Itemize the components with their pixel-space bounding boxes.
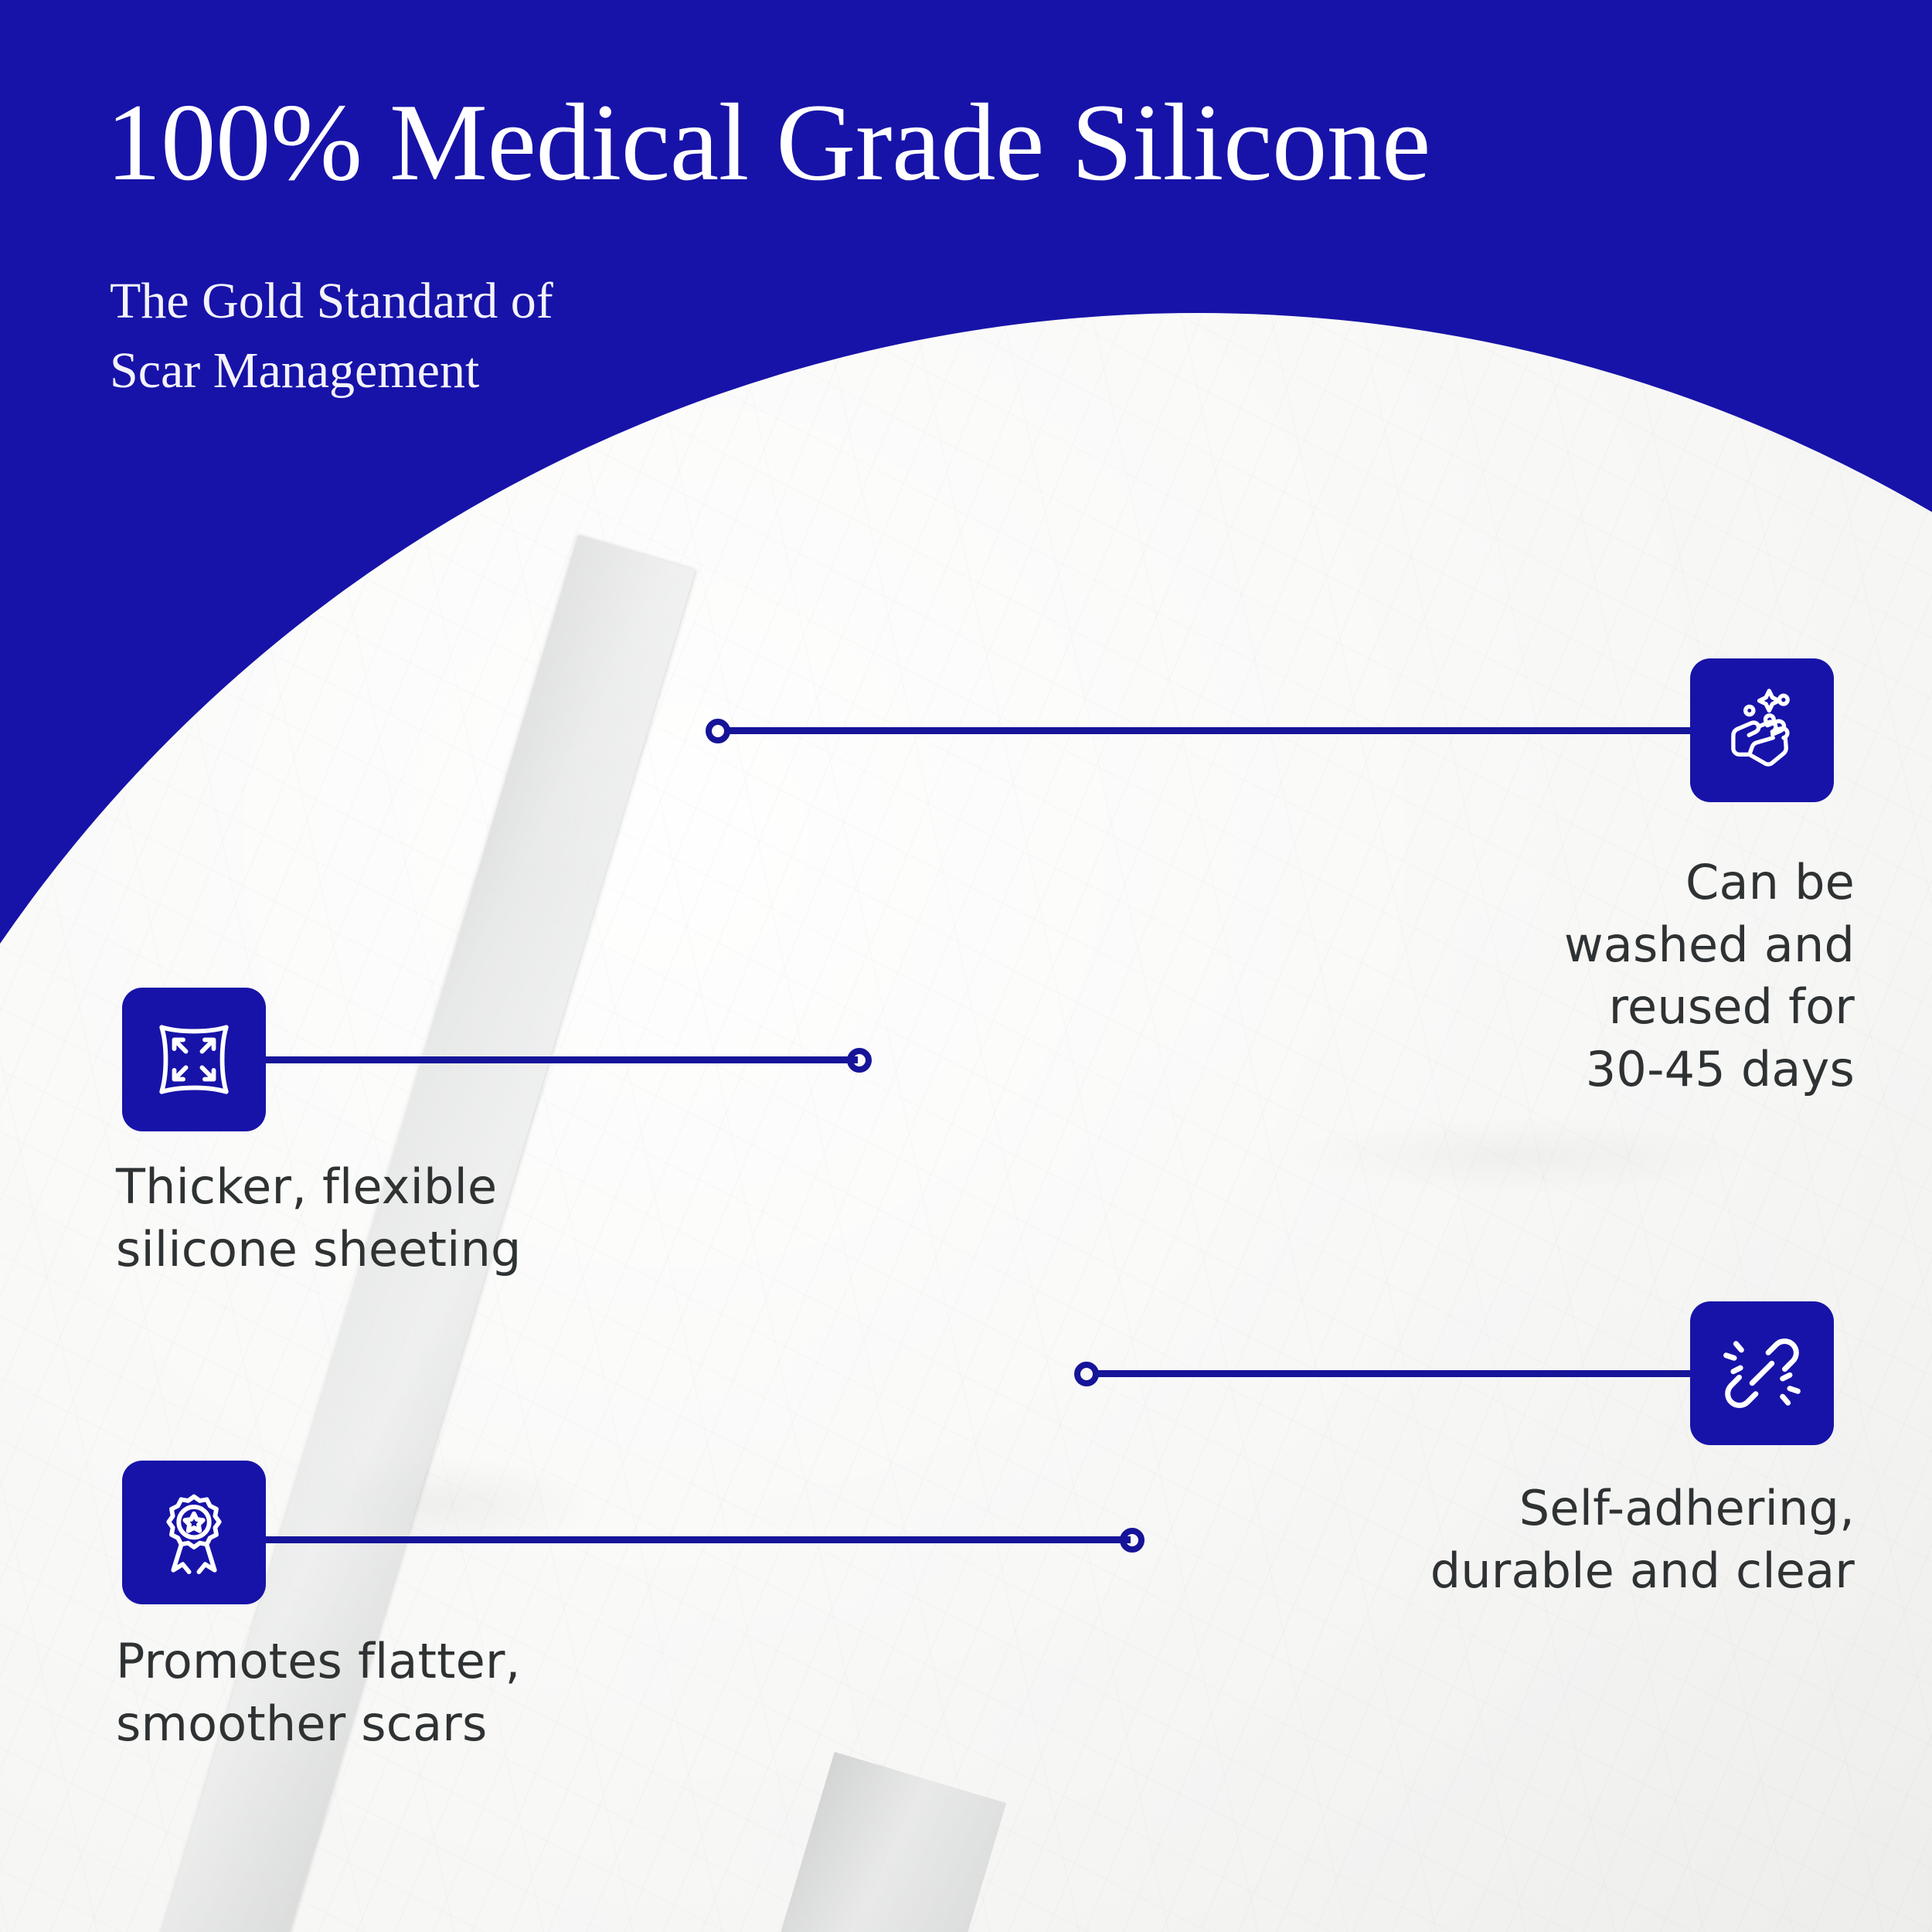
feature-caption-line: reused for: [1383, 976, 1855, 1039]
connector-dot-results: [1120, 1528, 1145, 1553]
connector-dot-adhesion: [1074, 1362, 1099, 1386]
washing-hands-icon: [1717, 685, 1807, 775]
feature-caption-results: Promotes flatter, smoother scars: [116, 1631, 703, 1755]
connector-line-thickness: [266, 1056, 858, 1063]
feature-caption-line: washed and: [1383, 914, 1855, 977]
feature-caption-line: Can be: [1383, 852, 1855, 914]
feature-caption-thickness: Thicker, flexible silicone sheeting: [116, 1156, 703, 1281]
connector-line-adhesion: [1097, 1370, 1690, 1377]
feature-icon-results[interactable]: [122, 1461, 266, 1604]
feature-caption-line: durable and clear: [1314, 1540, 1855, 1603]
feature-caption-washable: Can be washed and reused for 30-45 days: [1383, 852, 1855, 1100]
page-subtitle: The Gold Standard of Scar Management: [110, 267, 553, 406]
page-title: 100% Medical Grade Silicone: [106, 85, 1430, 200]
connector-line-washable: [729, 727, 1690, 734]
feature-caption-line: smoother scars: [116, 1693, 703, 1756]
feature-caption-line: Thicker, flexible: [116, 1156, 703, 1219]
connector-dot-washable: [706, 719, 730, 743]
infographic-canvas: 100% Medical Grade Silicone The Gold Sta…: [0, 0, 1932, 1932]
award-ribbon-icon: [149, 1488, 239, 1577]
page-subtitle-line-2: Scar Management: [110, 336, 553, 406]
feature-caption-line: Promotes flatter,: [116, 1631, 703, 1693]
feature-icon-adhesion[interactable]: [1690, 1301, 1834, 1445]
feature-caption-line: silicone sheeting: [116, 1219, 703, 1281]
feature-caption-line: 30-45 days: [1383, 1039, 1855, 1101]
feature-icon-thickness[interactable]: [122, 988, 266, 1131]
feature-caption-adhesion: Self-adhering, durable and clear: [1314, 1478, 1855, 1602]
chain-link-icon: [1717, 1328, 1807, 1418]
connector-line-results: [266, 1536, 1131, 1543]
page-subtitle-line-1: The Gold Standard of: [110, 267, 553, 336]
connector-dot-thickness: [847, 1048, 872, 1073]
feature-icon-washable[interactable]: [1690, 658, 1834, 802]
feature-caption-line: Self-adhering,: [1314, 1478, 1855, 1540]
stretch-expand-icon: [149, 1015, 239, 1104]
